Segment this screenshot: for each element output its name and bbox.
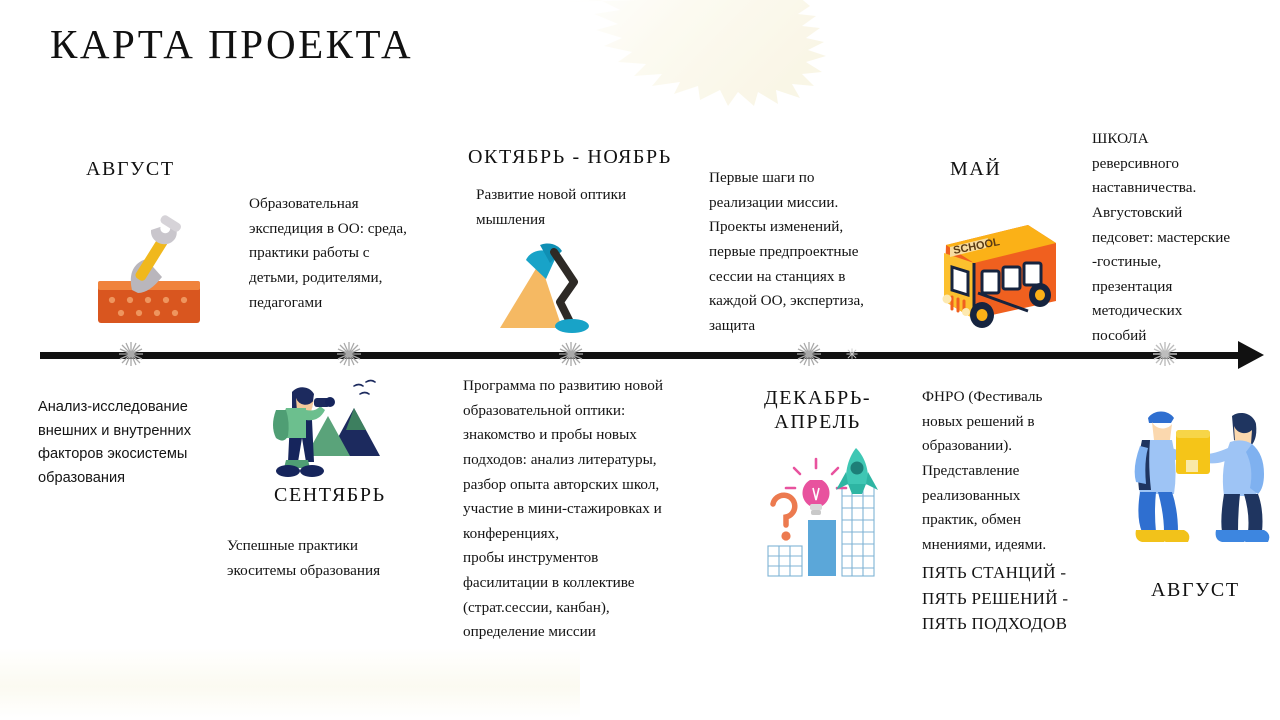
september-description-text: Успешные практики экоситемы образования	[227, 534, 447, 583]
growth-chart-rocket-icon	[756, 442, 886, 582]
august-description-text: Образовательная экспедиция в ОО: среда, …	[249, 192, 459, 315]
school-bus-icon: SCHOOL	[916, 215, 1061, 335]
month-label-september: СЕНТЯБРЬ	[274, 483, 386, 507]
october-november-description-text: Развитие новой оптики мышления	[476, 183, 691, 232]
month-label-august-end: АВГУСТ	[1151, 578, 1240, 602]
timeline-axis	[40, 352, 1240, 359]
timeline-marker-5	[1152, 341, 1178, 367]
timeline-marker-1	[118, 341, 144, 367]
hiker-binoculars-icon	[262, 368, 392, 490]
month-label-may: МАЙ	[950, 157, 1001, 181]
first-steps-description-text: Первые шаги по реализации миссии. Проект…	[709, 166, 921, 338]
decorative-starburst	[548, 0, 868, 114]
fnro-description-text: ФНРО (Фестиваль новых решений в образова…	[922, 385, 1102, 557]
month-label-august-start: АВГУСТ	[86, 157, 175, 181]
timeline-marker-small	[846, 348, 858, 360]
fnro-slogan-text: ПЯТЬ СТАНЦИЙ - ПЯТЬ РЕШЕНИЙ - ПЯТЬ ПОДХО…	[922, 560, 1117, 637]
page-title: КАРТА ПРОЕКТА	[50, 20, 413, 68]
month-label-december-april: ДЕКАБРЬ- АПРЕЛЬ	[764, 386, 871, 435]
school-mentorship-description-text: ШКОЛА реверсивного наставничества. Авгус…	[1092, 127, 1267, 349]
desk-lamp-icon	[488, 240, 598, 335]
timeline-marker-2	[336, 341, 362, 367]
program-description-text: Программа по развитию новой образователь…	[463, 374, 713, 645]
timeline-arrow-head	[1238, 341, 1264, 369]
timeline-marker-3	[558, 341, 584, 367]
timeline-marker-4	[796, 341, 822, 367]
slide-canvas: КАРТА ПРОЕКТА АВГУСТ Образовательная экс…	[0, 0, 1280, 720]
people-exchange-icon	[1112, 396, 1272, 546]
shovel-in-soil-icon	[92, 215, 207, 325]
decorative-bottom-wash	[0, 648, 580, 718]
month-label-october-november: ОКТЯБРЬ - НОЯБРЬ	[468, 145, 672, 169]
analysis-description-text: Анализ-исследование внешних и внутренних…	[38, 396, 253, 491]
